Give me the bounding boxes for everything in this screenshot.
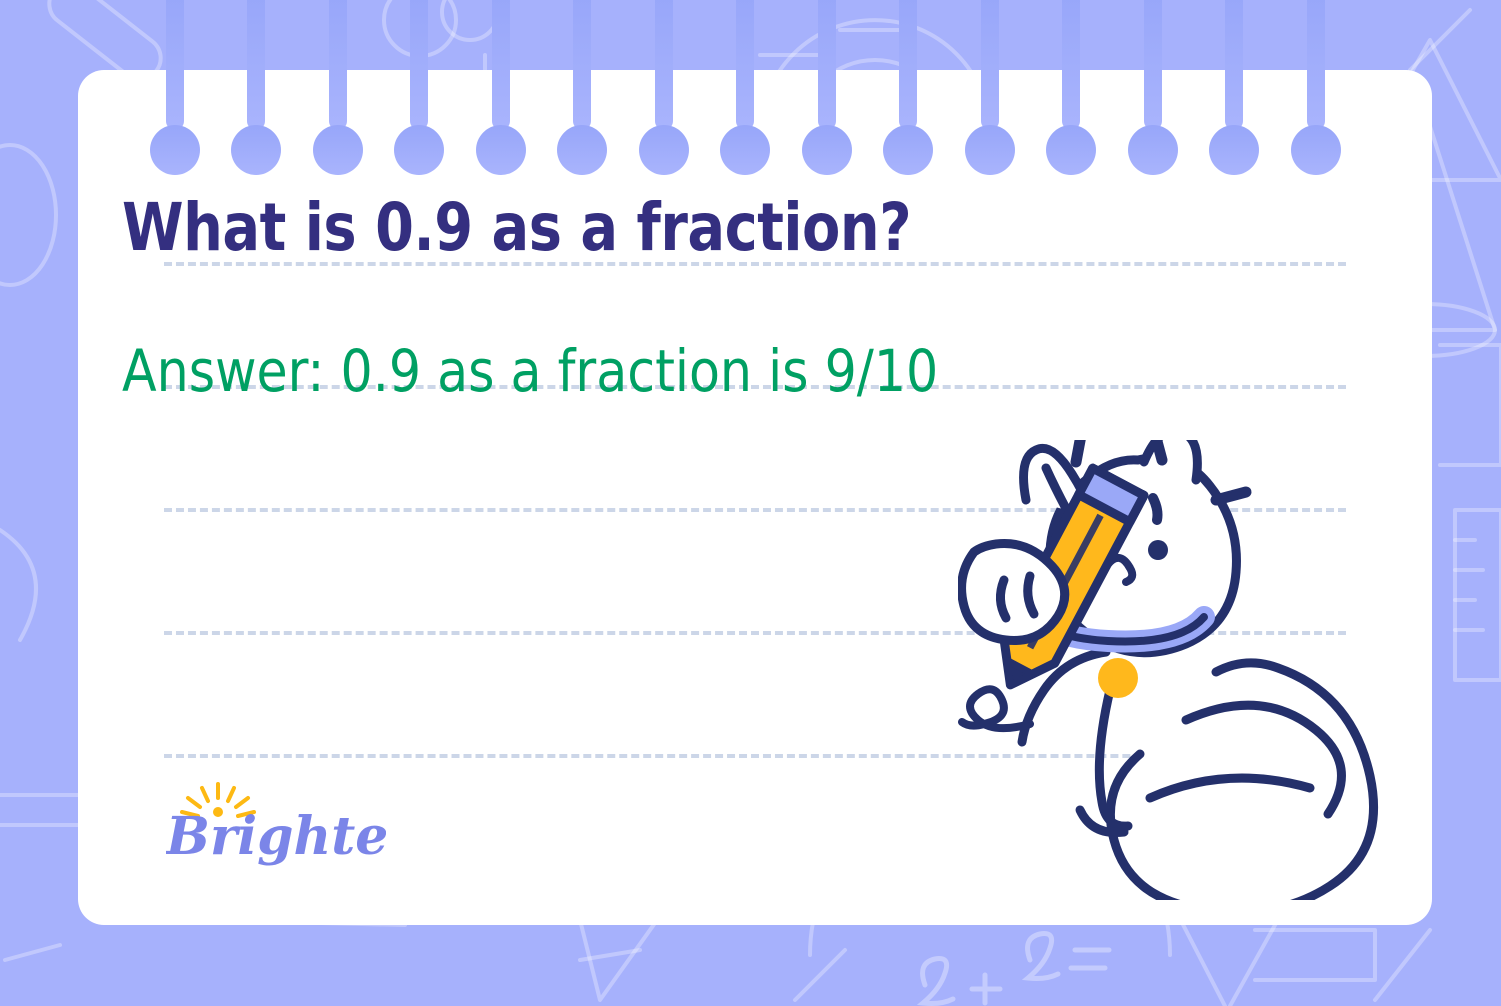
binding-ring	[476, 0, 526, 175]
page-title: What is 0.9 as a fraction?	[122, 195, 911, 261]
brighterly-cat-mascot	[958, 440, 1398, 900]
binding-ring	[557, 0, 607, 175]
mascot-eye-right	[1148, 540, 1168, 560]
binding-ring	[313, 0, 363, 175]
binding-ring	[965, 0, 1015, 175]
binding-ring	[394, 0, 444, 175]
mascot-hand	[962, 543, 1065, 640]
mascot-bell	[1098, 658, 1138, 698]
binding-ring	[883, 0, 933, 175]
brighterly-logo[interactable]: Brighterly	[166, 782, 386, 872]
binding-ring	[802, 0, 852, 175]
spiral-binding	[0, 0, 1501, 200]
mascot-brow	[1153, 498, 1158, 520]
binding-ring	[231, 0, 281, 175]
binding-ring	[720, 0, 770, 175]
mascot-scribble	[962, 689, 1030, 728]
binding-ring	[1291, 0, 1341, 175]
brand-wordmark: Brighterly	[166, 806, 386, 867]
answer-text: Answer: 0.9 as a fraction is 9/10	[122, 342, 938, 400]
binding-ring	[1046, 0, 1096, 175]
binding-ring	[1128, 0, 1178, 175]
binding-ring	[639, 0, 689, 175]
binding-ring	[1209, 0, 1259, 175]
binding-rings	[150, 0, 1341, 175]
binding-ring	[150, 0, 200, 175]
